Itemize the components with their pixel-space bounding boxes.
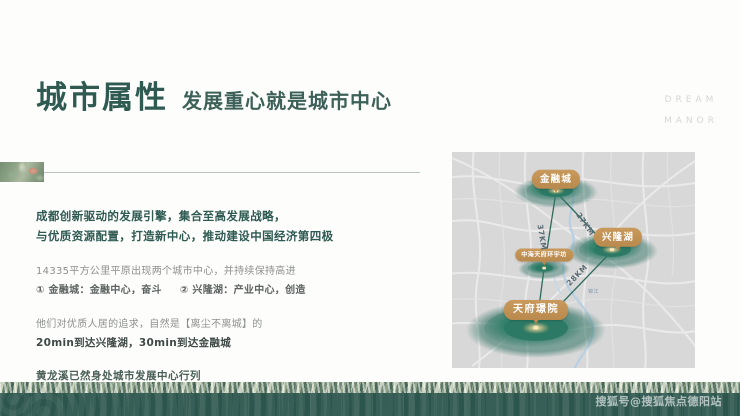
tail-paragraph: 黄龙溪已然身处城市发展中心行列 — [36, 368, 396, 383]
lead-line-2: 与优质资源配置，打造新中心，推动建设中国经济第四极 — [36, 229, 334, 243]
map-label-tianfu-manor[interactable]: 天府璟院 — [504, 300, 568, 320]
title-subtitle: 发展重心就是城市中心 — [182, 85, 392, 114]
note2-line-1: 他们对优质人居的追求，自然是【离尘不离城】的 — [36, 319, 263, 330]
body-text-block: 成都创新驱动的发展引擎，集合至高发展战略， 与优质资源配置，打造新中心，推动建设… — [36, 206, 396, 383]
lead-paragraph: 成都创新驱动的发展引擎，集合至高发展战略， 与优质资源配置，打造新中心，推动建设… — [36, 206, 396, 246]
bottom-decorative-band: 搜狐号@搜狐焦点德阳站 — [0, 382, 740, 416]
map-label-finance-city[interactable]: 金融城 — [532, 170, 580, 189]
slide-canvas: DREAM MANOR 城市属性 发展重心就是城市中心 成都创新驱动的发展引擎，… — [0, 0, 740, 416]
location-map[interactable]: 金融城 中海天府环宇坊 兴隆湖 天府璟院 37KM 27KM 28KM 锦江 — [452, 152, 695, 368]
watermark: 搜狐号@搜狐焦点德阳站 — [596, 393, 723, 409]
map-label-zhonghai-plaza[interactable]: 中海天府环宇坊 — [515, 249, 573, 262]
page-title: 城市属性 发展重心就是城市中心 — [36, 72, 392, 117]
divider-line — [44, 172, 420, 173]
note1-line-1: 14335平方公里平原出现两个城市中心，并持续保持高进 — [36, 266, 296, 277]
foliage-strip-icon — [0, 382, 740, 393]
brand-logo: DREAM MANOR — [664, 90, 718, 132]
brand-line-1: DREAM — [664, 90, 718, 111]
note-paragraph-1: 14335平方公里平原出现两个城市中心，并持续保持高进 ① 金融城：金融中心，奋… — [36, 262, 396, 300]
floral-ornament-icon — [0, 162, 44, 182]
lead-line-1: 成都创新驱动的发展引擎，集合至高发展战略， — [36, 209, 286, 223]
note1-item-1: ① 金融城：金融中心，奋斗 — [36, 285, 162, 296]
brand-line-2: MANOR — [664, 111, 718, 132]
note2-line-2: 20min到达兴隆湖，30min到达金融城 — [36, 337, 231, 349]
note-paragraph-2: 他们对优质人居的追求，自然是【离尘不离城】的 20min到达兴隆湖，30min到… — [36, 315, 396, 353]
title-main: 城市属性 — [36, 72, 168, 117]
note1-item-2: ② 兴隆湖：产业中心，创造 — [180, 285, 306, 296]
map-river-label: 锦江 — [588, 288, 599, 295]
divider — [0, 162, 430, 184]
map-label-xinglong-lake[interactable]: 兴隆湖 — [594, 228, 642, 247]
